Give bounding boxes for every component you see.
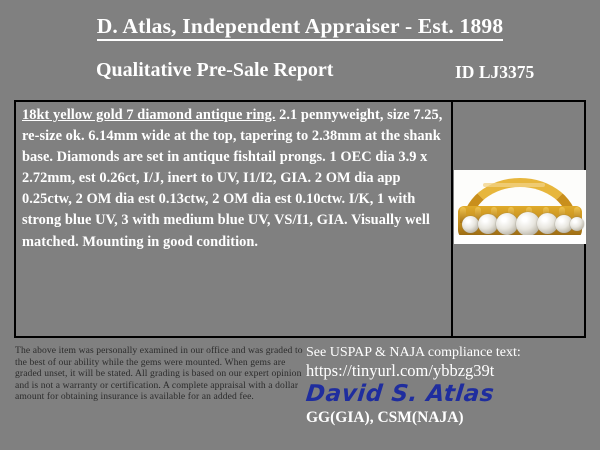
item-description-body: 2.1 pennyweight, size 7.25, re-size ok. … bbox=[22, 107, 442, 250]
item-description: 18kt yellow gold 7 diamond antique ring.… bbox=[22, 105, 447, 253]
item-detail-frame: 18kt yellow gold 7 diamond antique ring.… bbox=[14, 100, 586, 338]
company-title-text: D. Atlas, Independent Appraiser - Est. 1… bbox=[97, 14, 504, 41]
appraiser-credentials: GG(GIA), CSM(NAJA) bbox=[306, 408, 592, 427]
diamond-gem bbox=[462, 216, 479, 233]
report-id-label: ID LJ3375 bbox=[455, 62, 534, 83]
gold-diamond-ring-photo bbox=[454, 170, 586, 244]
appraiser-signature: David S. Atlas bbox=[305, 381, 594, 407]
compliance-block: See USPAP & NAJA compliance text: https:… bbox=[306, 344, 592, 427]
compliance-label: See USPAP & NAJA compliance text: bbox=[306, 344, 592, 361]
diamond-gem bbox=[478, 214, 498, 234]
diamond-gem bbox=[496, 213, 518, 235]
description-cell: 18kt yellow gold 7 diamond antique ring.… bbox=[16, 102, 453, 336]
photo-backdrop bbox=[454, 235, 586, 244]
item-description-lead: 18kt yellow gold 7 diamond antique ring. bbox=[22, 107, 275, 123]
report-type-heading: Qualitative Pre-Sale Report bbox=[96, 59, 333, 82]
document-header: D. Atlas, Independent Appraiser - Est. 1… bbox=[0, 0, 600, 96]
diamond-gem bbox=[570, 217, 584, 231]
page-title: D. Atlas, Independent Appraiser - Est. 1… bbox=[0, 14, 600, 39]
photo-cell bbox=[453, 102, 584, 336]
disclaimer-text: The above item was personally examined i… bbox=[15, 345, 303, 403]
compliance-url-link[interactable]: https://tinyurl.com/ybbzg39t bbox=[306, 361, 592, 381]
